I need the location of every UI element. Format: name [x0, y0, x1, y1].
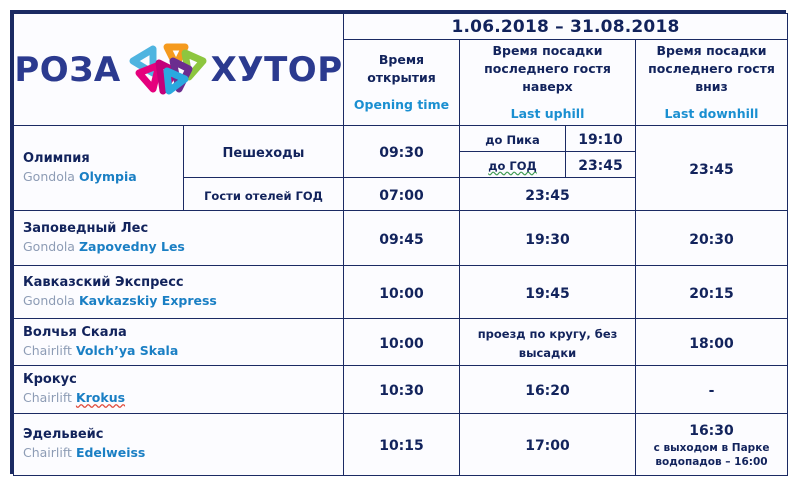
krokus-opening: 10:30	[344, 366, 460, 414]
lift-name-ru: Эдельвейс	[23, 427, 339, 444]
kavkazskiy-express-uphill: 19:45	[460, 266, 636, 319]
olympia-subrow-pedestrians-label: Пешеходы	[184, 126, 344, 178]
lift-name-en: Gondola Olympia	[23, 169, 179, 186]
olympia-uphill-god-label: до ГОД	[460, 152, 566, 178]
column-header-last-downhill: Время посадки последнего гостя вниз Last…	[636, 40, 788, 126]
schedule-sheet: РОЗА	[10, 10, 786, 474]
olympia-uphill-god-time: 23:45	[566, 152, 636, 178]
column-header-last-uphill: Время посадки последнего гостя наверх La…	[460, 40, 636, 126]
olympia-subrow-hotelguests-label: Гости отелей ГОД	[184, 178, 344, 211]
lift-name-kavkazskiy-express: Кавказский Экспресс Gondola Kavkazskiy E…	[14, 266, 344, 319]
lift-name-en: Gondola Kavkazskiy Express	[23, 293, 339, 310]
olympia-downhill: 23:45	[636, 126, 788, 211]
lift-name-olympia: Олимпия Gondola Olympia	[14, 126, 184, 211]
lift-name-zapovedny-les: Заповедный Лес Gondola Zapovedny Les	[14, 211, 344, 266]
kavkazskiy-express-opening: 10:00	[344, 266, 460, 319]
olympia-pedestrians-opening: 09:30	[344, 126, 460, 178]
zapovedny-les-downhill: 20:30	[636, 211, 788, 266]
volchya-skala-downhill: 18:00	[636, 319, 788, 366]
table-row: Крокус Chairlift Krokus 10:30 16:20 -	[14, 366, 788, 414]
column-header-opening-time-en: Opening time	[348, 96, 455, 114]
olympia-uphill-peak-label: до Пика	[460, 126, 566, 152]
krokus-downhill: -	[636, 366, 788, 414]
edelweiss-downhill: 16:30 с выходом в Парке водопадов – 16:0…	[636, 414, 788, 476]
volchya-skala-opening: 10:00	[344, 319, 460, 366]
table-row: Заповедный Лес Gondola Zapovedny Les 09:…	[14, 211, 788, 266]
edelweiss-downhill-note: с выходом в Парке водопадов – 16:00	[640, 441, 783, 469]
lift-name-en: Chairlift Krokus	[23, 390, 339, 407]
lift-schedule-table: РОЗА	[13, 13, 788, 476]
column-header-last-uphill-en: Last uphill	[464, 105, 631, 123]
lift-name-edelweiss: Эдельвейс Chairlift Edelweiss	[14, 414, 344, 476]
lift-name-ru: Крокус	[23, 372, 339, 389]
edelweiss-opening: 10:15	[344, 414, 460, 476]
krokus-uphill: 16:20	[460, 366, 636, 414]
brand-word-left: РОЗА	[14, 53, 120, 87]
rosa-khutor-triangles-logo-icon	[123, 39, 209, 101]
lift-name-ru: Кавказский Экспресс	[23, 275, 339, 292]
table-row: Кавказский Экспресс Gondola Kavkazskiy E…	[14, 266, 788, 319]
lift-name-en: Chairlift Edelweiss	[23, 445, 339, 462]
olympia-hotelguests-opening: 07:00	[344, 178, 460, 211]
olympia-uphill-detail: до Пика 19:10 до ГОД 23:45	[460, 126, 636, 178]
date-range-title: 1.06.2018 – 31.08.2018	[344, 14, 788, 40]
lift-name-en: Chairlift Volch’ya Skala	[23, 343, 339, 360]
header-row-title: РОЗА	[14, 14, 788, 40]
olympia-uphill-peak-time: 19:10	[566, 126, 636, 152]
zapovedny-les-uphill: 19:30	[460, 211, 636, 266]
lift-name-ru: Волчья Скала	[23, 325, 339, 342]
column-header-last-downhill-en: Last downhill	[640, 105, 783, 123]
lift-name-krokus: Крокус Chairlift Krokus	[14, 366, 344, 414]
volchya-skala-uphill-note: проезд по кругу, без высадки	[460, 319, 636, 366]
lift-name-volchya-skala: Волчья Скала Chairlift Volch’ya Skala	[14, 319, 344, 366]
table-row: Эдельвейс Chairlift Edelweiss 10:15 17:0…	[14, 414, 788, 476]
lift-name-ru: Заповедный Лес	[23, 221, 339, 238]
edelweiss-uphill: 17:00	[460, 414, 636, 476]
brand-logo-cell: РОЗА	[14, 14, 344, 126]
table-row: Волчья Скала Chairlift Volch’ya Skala 10…	[14, 319, 788, 366]
column-header-opening-time: Время открытия Opening time	[344, 40, 460, 126]
zapovedny-les-opening: 09:45	[344, 211, 460, 266]
kavkazskiy-express-downhill: 20:15	[636, 266, 788, 319]
lift-name-en: Gondola Zapovedny Les	[23, 239, 339, 256]
table-row: Олимпия Gondola Olympia Пешеходы 09:30 д…	[14, 126, 788, 178]
olympia-hotelguests-uphill: 23:45	[460, 178, 636, 211]
brand-word-right: ХУТОР	[211, 53, 343, 87]
lift-name-ru: Олимпия	[23, 151, 179, 168]
